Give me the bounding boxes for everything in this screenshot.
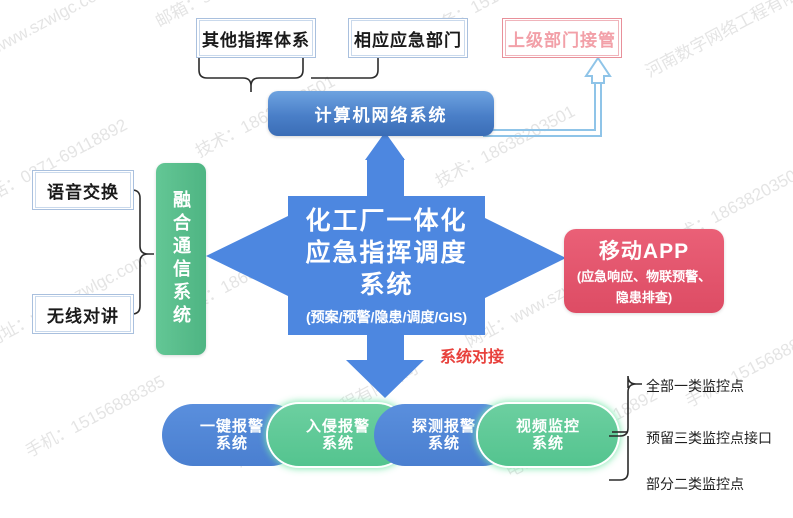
box-emergency-department-label: 相应应急部门 xyxy=(351,20,465,56)
central-system-line1: 化工厂一体化 xyxy=(305,205,467,237)
box-computer-network-system[interactable]: 计算机网络系统 xyxy=(268,91,494,136)
box-converged-communication-system-label: 融合通信系统 xyxy=(172,190,190,328)
note-all-class-1-points: 全部一类监控点 xyxy=(646,376,744,396)
takeover-connector-line xyxy=(483,83,601,136)
box-voice-exchange[interactable]: 语音交换 xyxy=(32,170,134,210)
box-mobile-app-subtitle-line2: 隐患排查) xyxy=(616,289,672,307)
arrow-up-shaft xyxy=(367,158,404,200)
diagram-canvas: www.szwlgc.com 电话：0371-69118892 网址：www.s… xyxy=(0,0,793,518)
central-system-line3: 系统 xyxy=(359,269,413,301)
box-wireless-intercom-label: 无线对讲 xyxy=(35,296,131,332)
box-central-system[interactable]: 化工厂一体化 应急指挥调度 系统 (预案/预警/隐患/调度/GIS) xyxy=(288,196,485,335)
box-wireless-intercom[interactable]: 无线对讲 xyxy=(32,294,134,334)
note-reserved-class-3-interface: 预留三类监控点接口 xyxy=(646,428,772,448)
takeover-arrow-head xyxy=(586,58,610,83)
note-partial-class-2-points: 部分二类监控点 xyxy=(646,474,744,494)
central-system-line2: 应急指挥调度 xyxy=(305,237,467,269)
box-voice-exchange-label: 语音交换 xyxy=(35,172,131,208)
pill-video-surveillance-system-label: 视频监控系统 xyxy=(512,418,584,453)
brace-top-right-leg xyxy=(311,58,378,78)
box-mobile-app-subtitle-line1: (应急响应、物联预警、 xyxy=(577,268,711,286)
pill-intrusion-alarm-system-label: 入侵报警系统 xyxy=(302,418,374,453)
central-system-subtitle: (预案/预警/隐患/调度/GIS) xyxy=(306,307,467,327)
box-mobile-app-title: 移动APP xyxy=(599,235,689,265)
box-computer-network-system-label: 计算机网络系统 xyxy=(315,101,448,126)
label-system-integration: 系统对接 xyxy=(440,343,504,367)
pill-detection-alarm-system-label: 探测报警系统 xyxy=(408,418,480,453)
box-other-command-system[interactable]: 其他指挥体系 xyxy=(196,18,316,58)
pill-one-key-alarm-system-label: 一键报警系统 xyxy=(196,418,268,453)
box-superior-takeover-label: 上级部门接管 xyxy=(505,20,619,56)
brace-top-boxes xyxy=(199,58,303,92)
pill-video-surveillance-system[interactable]: 视频监控系统 xyxy=(478,404,618,466)
box-mobile-app[interactable]: 移动APP (应急响应、物联预警、 隐患排查) xyxy=(564,229,724,313)
box-emergency-department[interactable]: 相应应急部门 xyxy=(348,18,468,58)
box-converged-communication-system[interactable]: 融合通信系统 xyxy=(156,163,206,355)
box-other-command-system-label: 其他指挥体系 xyxy=(199,20,313,56)
box-superior-takeover[interactable]: 上级部门接管 xyxy=(502,18,622,58)
